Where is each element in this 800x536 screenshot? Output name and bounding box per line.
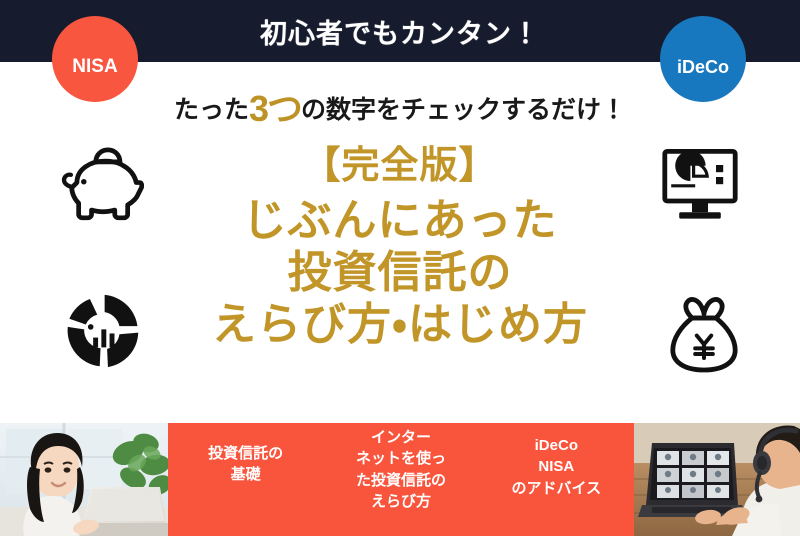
page-title-line-1: 【完全版】 <box>0 144 800 189</box>
topic-labels: 投資信託の 基礎 インター ネットを使っ た投資信託の えらび方 iDeCo N… <box>168 423 634 536</box>
topic-2-line-1: インター <box>371 427 431 448</box>
photo-man-video-conference <box>632 423 800 536</box>
topic-2-line-4: えらび方 <box>371 491 431 512</box>
topic-3-line-2: NISA <box>538 456 574 477</box>
subheadline-suffix: の数字をチェックするだけ！ <box>301 96 626 124</box>
topic-1-line-1: 投資信託の <box>208 443 283 464</box>
photo-woman-with-laptop <box>0 423 172 536</box>
poster-root: 初心者でもカンタン！ NISA iDeCo たった3つの数字をチェックするだけ！… <box>0 0 800 536</box>
topic-item-3: iDeCo NISA のアドバイス <box>479 423 634 536</box>
page-title-line-2: じぶんにあった <box>0 195 800 247</box>
nisa-badge-label: NISA <box>72 56 117 78</box>
topic-3-line-3: のアドバイス <box>512 478 602 499</box>
nisa-badge-icon: NISA <box>52 16 138 102</box>
page-title-line-3: 投資信託の <box>0 247 800 299</box>
subheadline-highlight: 3つ <box>249 88 301 129</box>
ideco-badge-label: iDeCo <box>677 57 729 78</box>
ideco-badge-icon: iDeCo <box>660 16 746 102</box>
page-title-line-4: えらび方・はじめ方 <box>0 299 800 351</box>
topic-3-line-1: iDeCo <box>535 435 578 456</box>
subheadline-prefix: たった <box>174 96 249 124</box>
topic-2-line-2: ネットを使っ <box>356 448 446 469</box>
bottom-strip: 投資信託の 基礎 インター ネットを使っ た投資信託の えらび方 iDeCo N… <box>0 423 800 536</box>
topic-item-2: インター ネットを使っ た投資信託の えらび方 <box>323 423 478 536</box>
page-title: 【完全版】 じぶんにあった 投資信託の えらび方・はじめ方 <box>0 144 800 351</box>
topic-1-line-2: 基礎 <box>231 464 261 485</box>
topic-2-line-3: た投資信託の <box>356 470 446 491</box>
topic-item-1: 投資信託の 基礎 <box>168 423 323 536</box>
